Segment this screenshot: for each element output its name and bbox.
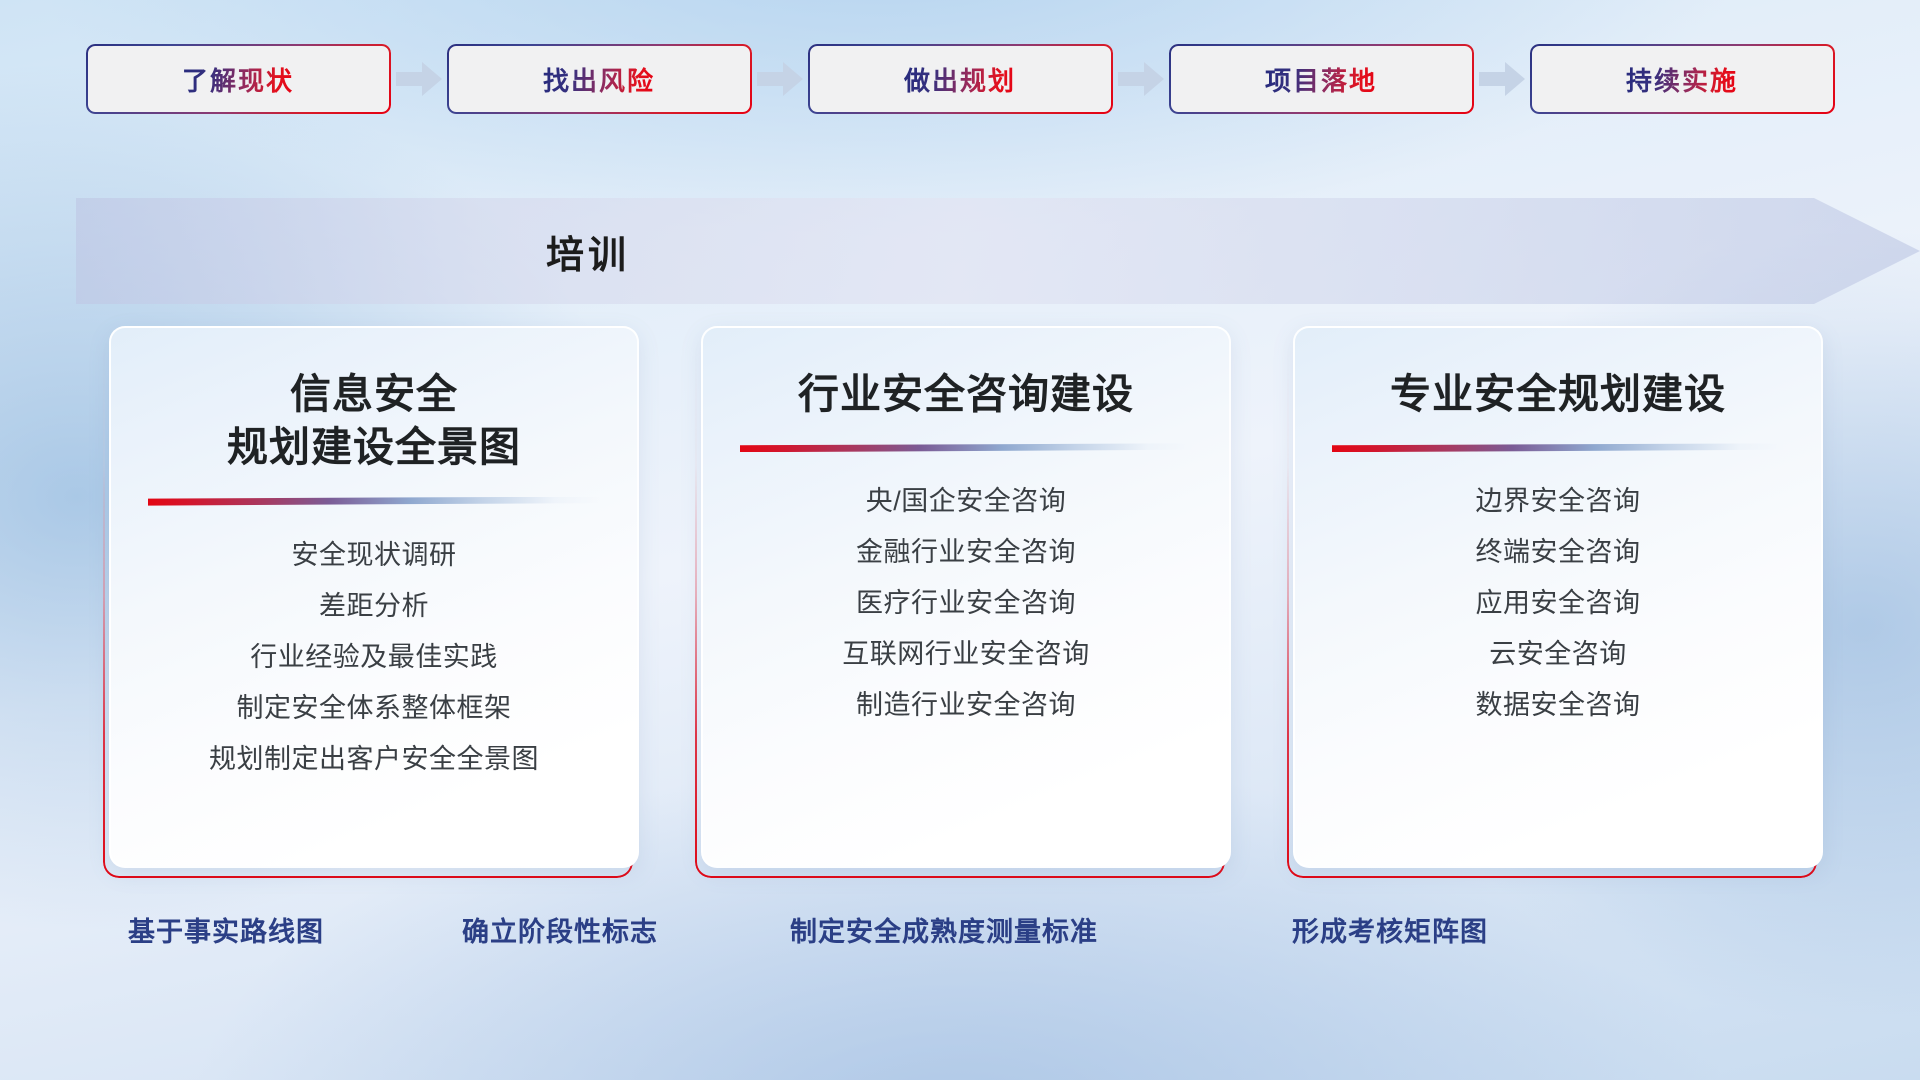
list-item: 互联网行业安全咨询 <box>842 629 1090 680</box>
step-label: 找出风险 <box>543 61 655 98</box>
card-title: 行业安全咨询建设 <box>798 368 1134 421</box>
outcome-label: 形成考核矩阵图 <box>1292 910 1488 949</box>
process-step-flow: 了解现状 找出风险 做出规划 项目落地 持续实施 <box>0 0 1920 158</box>
list-item: 金融行业安全咨询 <box>856 527 1076 578</box>
list-item: 边界安全咨询 <box>1476 476 1641 527</box>
capability-card-3[interactable]: 专业安全规划建设 边界安全咨询 终端安全咨询 应用安全咨询 云安全咨询 数据安全… <box>1293 326 1823 868</box>
step-box-5[interactable]: 持续实施 <box>1530 44 1835 114</box>
outcome-label: 制定安全成熟度测量标准 <box>790 910 1098 949</box>
list-item: 应用安全咨询 <box>1476 578 1641 629</box>
card-wrap: 行业安全咨询建设 央/国企安全咨询 金融行业安全咨询 医疗行业安全咨询 互联网行… <box>695 336 1225 878</box>
training-band: 培训 <box>76 198 1920 304</box>
right-arrow-icon <box>391 59 447 99</box>
list-item: 规划制定出客户安全全景图 <box>209 734 539 785</box>
right-arrow-icon <box>1113 59 1169 99</box>
step-label: 做出规划 <box>904 61 1016 98</box>
list-item: 制造行业安全咨询 <box>856 680 1076 731</box>
capability-card-group: 信息安全 规划建设全景图 安全现状调研 差距分析 行业经验及最佳实践 制定安全体… <box>0 336 1920 878</box>
step-label: 项目落地 <box>1265 61 1377 98</box>
list-item: 安全现状调研 <box>292 530 457 581</box>
card-divider <box>1332 443 1784 452</box>
list-item: 央/国企安全咨询 <box>866 476 1067 527</box>
list-item: 医疗行业安全咨询 <box>856 578 1076 629</box>
card-wrap: 专业安全规划建设 边界安全咨询 终端安全咨询 应用安全咨询 云安全咨询 数据安全… <box>1287 336 1817 878</box>
step-label: 持续实施 <box>1626 61 1738 98</box>
right-arrow-icon <box>752 59 808 99</box>
card-title: 专业安全规划建设 <box>1390 368 1726 421</box>
step-box-4[interactable]: 项目落地 <box>1169 44 1474 114</box>
list-item: 行业经验及最佳实践 <box>250 632 498 683</box>
card-item-list: 边界安全咨询 终端安全咨询 应用安全咨询 云安全咨询 数据安全咨询 <box>1295 476 1821 731</box>
card-divider <box>740 443 1192 452</box>
list-item: 终端安全咨询 <box>1476 527 1641 578</box>
list-item: 差距分析 <box>319 581 429 632</box>
step-box-2[interactable]: 找出风险 <box>447 44 752 114</box>
card-title: 信息安全 规划建设全景图 <box>227 368 521 475</box>
card-wrap: 信息安全 规划建设全景图 安全现状调研 差距分析 行业经验及最佳实践 制定安全体… <box>103 336 633 878</box>
card-divider <box>148 497 600 506</box>
list-item: 数据安全咨询 <box>1476 680 1641 731</box>
capability-card-1[interactable]: 信息安全 规划建设全景图 安全现状调研 差距分析 行业经验及最佳实践 制定安全体… <box>109 326 639 868</box>
step-box-1[interactable]: 了解现状 <box>86 44 391 114</box>
card-item-list: 安全现状调研 差距分析 行业经验及最佳实践 制定安全体系整体框架 规划制定出客户… <box>111 530 637 785</box>
list-item: 制定安全体系整体框架 <box>237 683 512 734</box>
card-item-list: 央/国企安全咨询 金融行业安全咨询 医疗行业安全咨询 互联网行业安全咨询 制造行… <box>703 476 1229 731</box>
right-arrow-icon <box>1474 59 1530 99</box>
step-box-3[interactable]: 做出规划 <box>808 44 1113 114</box>
outcome-label: 确立阶段性标志 <box>462 910 658 949</box>
outcome-label-row: 基于事实路线图 确立阶段性标志 制定安全成熟度测量标准 形成考核矩阵图 <box>0 910 1920 980</box>
step-label: 了解现状 <box>182 61 294 98</box>
capability-card-2[interactable]: 行业安全咨询建设 央/国企安全咨询 金融行业安全咨询 医疗行业安全咨询 互联网行… <box>701 326 1231 868</box>
outcome-label: 基于事实路线图 <box>128 910 324 949</box>
list-item: 云安全咨询 <box>1489 629 1627 680</box>
training-band-label: 培训 <box>76 198 1920 304</box>
